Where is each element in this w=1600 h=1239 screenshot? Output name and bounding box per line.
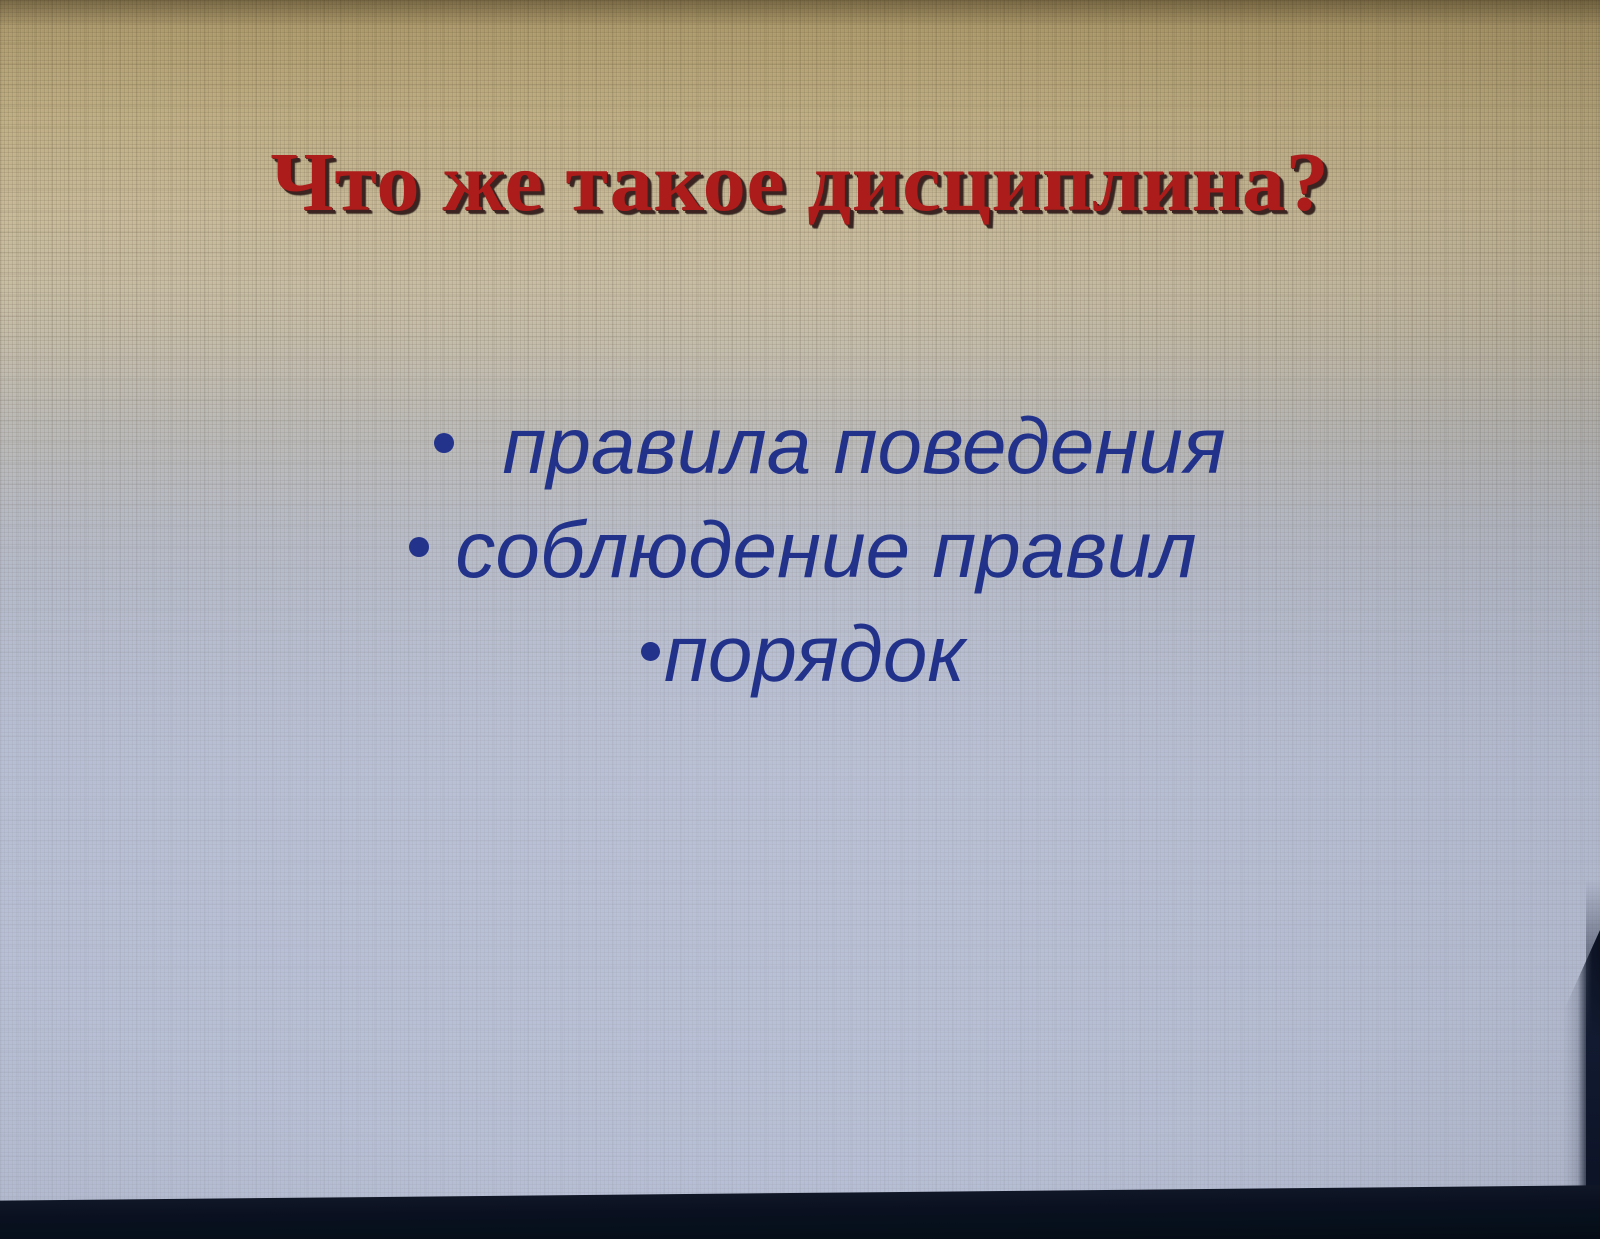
- bullet-dot-icon: [409, 537, 429, 557]
- list-item: правила поведения: [0, 394, 1600, 498]
- list-item-label: соблюдение правил: [455, 498, 1196, 602]
- bullet-dot-icon: [641, 642, 660, 661]
- top-edge-shadow: [0, 0, 1600, 26]
- slide-surface: Что же такое дисциплина? правила поведен…: [0, 0, 1600, 1239]
- slide-title: Что же такое дисциплина?: [0, 131, 1600, 235]
- list-item-label: правила поведения: [502, 394, 1225, 498]
- projected-slide-photo: Что же такое дисциплина? правила поведен…: [0, 0, 1600, 1239]
- bullet-dot-icon: [434, 433, 454, 453]
- slide-bullet-list: правила поведения соблюдение правил поря…: [0, 394, 1600, 706]
- right-edge-shadow: [1586, 0, 1600, 1239]
- list-item: соблюдение правил: [0, 498, 1600, 602]
- list-item-label: порядок: [664, 602, 965, 706]
- list-item: порядок: [0, 602, 1600, 706]
